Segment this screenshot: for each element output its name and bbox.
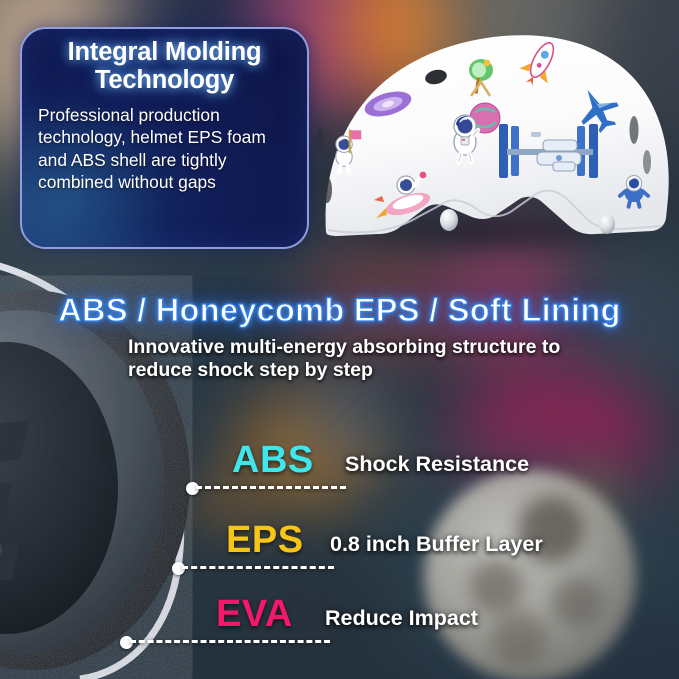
helmet-illustration	[296, 22, 679, 272]
layer-row-abs: ABS Shock Resistance	[0, 438, 679, 496]
layer-code-abs: ABS	[232, 439, 314, 482]
leader-line-eva	[130, 640, 330, 643]
layer-desc-abs: Shock Resistance	[345, 452, 529, 477]
layer-row-eva: EVA Reduce Impact	[0, 592, 679, 650]
layer-desc-eps: 0.8 inch Buffer Layer	[330, 532, 543, 557]
callout-title: Integral Molding Technology	[34, 39, 295, 95]
product-infographic: Integral Molding Technology Professional…	[0, 0, 679, 679]
layer-code-eps: EPS	[226, 519, 304, 562]
leader-line-abs	[196, 486, 346, 489]
layer-desc-eva: Reduce Impact	[325, 606, 478, 631]
white-helmet-product	[296, 22, 679, 272]
callout-box: Integral Molding Technology Professional…	[20, 27, 309, 249]
leader-line-eps	[182, 566, 334, 569]
layer-code-eva: EVA	[216, 593, 293, 636]
callout-body: Professional production technology, helm…	[38, 104, 293, 195]
layer-row-eps: EPS 0.8 inch Buffer Layer	[0, 518, 679, 576]
